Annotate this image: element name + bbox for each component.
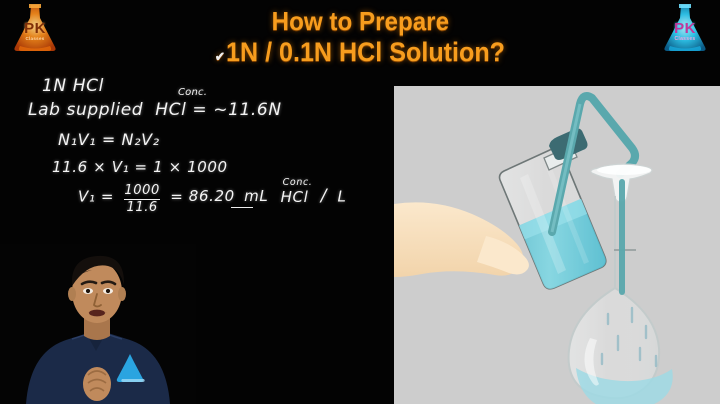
flask-icon-cyan: [654, 2, 716, 58]
note-answer-value: 86.20: [189, 187, 235, 205]
note-line-4: 11.6 × V₁ = 1 × 1000: [52, 158, 228, 176]
note-conc-superscript: Conc.: [178, 87, 207, 98]
handwritten-notes: 1N HCl Lab supplied HCl = ~11.6N Conc. N…: [18, 74, 388, 242]
brand-logo-right: PK Classes: [654, 2, 716, 58]
checkmark-icon: ✔: [215, 50, 225, 63]
instructor-portrait: [0, 244, 196, 404]
presenter-hand: [83, 367, 111, 401]
brand-logo-left: PK Classes: [4, 2, 66, 58]
note-hcl-label: HCl: [281, 188, 309, 206]
flask-icon-orange: [4, 2, 66, 58]
title-line-2-text: 1N / 0.1N HCl Solution?: [226, 37, 505, 67]
note-equals: =: [170, 187, 183, 205]
note-line-2-formula: HCl = ~11.6N: [155, 100, 281, 120]
note-line-5-lhs: V₁ =: [78, 187, 114, 205]
note-line-2: Lab supplied HCl = ~11.6N Conc.: [28, 100, 282, 120]
note-fraction-denominator: 11.6: [124, 201, 159, 215]
illustration-panel: [394, 86, 720, 404]
note-answer: 86.20: [189, 187, 235, 205]
note-answer-unit: mL: [244, 187, 268, 205]
video-title: How to Prepare ✔1N / 0.1N HCl Solution?: [86, 2, 634, 72]
presenter-video: [0, 244, 196, 404]
title-line-2: ✔1N / 0.1N HCl Solution?: [215, 39, 505, 66]
note-line-3: N₁V₁ = N₂V₂: [58, 130, 160, 149]
note-answer-underline: [231, 207, 253, 208]
note-line-2-lead: Lab supplied: [28, 100, 143, 120]
title-line-1: How to Prepare: [271, 8, 448, 34]
note-line-1: 1N HCl: [42, 76, 104, 96]
pouring-illustration: [394, 86, 720, 404]
note-fraction: 1000 11.6: [124, 184, 159, 214]
note-per-liter: L: [337, 187, 346, 205]
note-conc-label: Conc.: [283, 177, 313, 188]
video-frame: PK Classes PK Classes How to Prepare ✔1N…: [0, 0, 720, 404]
note-conc-hcl: Conc. HCl: [281, 188, 309, 206]
note-divider: /: [321, 186, 327, 206]
note-line-5: V₁ = 1000 11.6 = 86.20 mL Conc. HCl / L: [78, 184, 346, 214]
note-fraction-numerator: 1000: [124, 184, 159, 198]
